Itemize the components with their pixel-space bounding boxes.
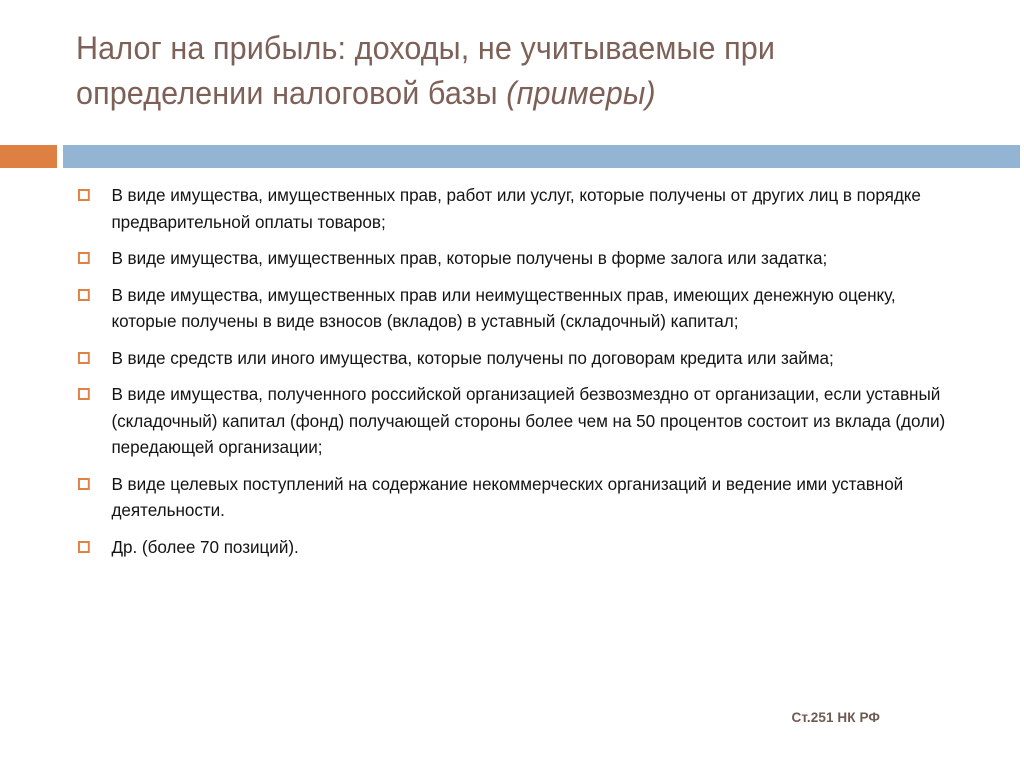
hollow-square-bullet-icon	[78, 289, 90, 301]
source-reference: Ст.251 НК РФ	[0, 710, 880, 725]
list-item-text: В виде имущества, имущественных прав или…	[111, 285, 895, 332]
list-item-text: В виде имущества, имущественных прав, ра…	[111, 185, 920, 232]
list-item: В виде имущества, полученного российской…	[76, 381, 963, 461]
page-title: Налог на прибыль: доходы, не учитываемые…	[76, 26, 922, 116]
list-item: В виде средств или иного имущества, кото…	[76, 345, 963, 372]
title-divider	[0, 145, 1024, 168]
list-item: В виде целевых поступлений на содержание…	[76, 471, 963, 524]
list-item: В виде имущества, имущественных прав или…	[76, 282, 963, 335]
content-bullet-list: В виде имущества, имущественных прав, ра…	[76, 182, 976, 560]
hollow-square-bullet-icon	[78, 189, 90, 201]
list-item-text: В виде средств или иного имущества, кото…	[111, 348, 833, 368]
hollow-square-bullet-icon	[78, 388, 90, 400]
list-item-text: В виде имущества, имущественных прав, ко…	[111, 248, 827, 268]
list-item-text: В виде имущества, полученного российской…	[111, 384, 945, 457]
hollow-square-bullet-icon	[78, 478, 90, 490]
list-item-text: В виде целевых поступлений на содержание…	[111, 474, 903, 521]
hollow-square-bullet-icon	[78, 352, 90, 364]
hollow-square-bullet-icon	[78, 541, 90, 553]
list-item: В виде имущества, имущественных прав, ра…	[76, 182, 963, 235]
hollow-square-bullet-icon	[78, 252, 90, 264]
list-item: Др. (более 70 позиций).	[76, 534, 963, 561]
list-item: В виде имущества, имущественных прав, ко…	[76, 245, 963, 272]
divider-bar	[63, 145, 1020, 168]
divider-accent-block	[0, 145, 57, 168]
page-title-line-2-italic: (примеры)	[506, 75, 655, 111]
list-item-text: Др. (более 70 позиций).	[111, 537, 298, 557]
page-title-line-1: Налог на прибыль: доходы, не учитываемые	[76, 30, 716, 66]
